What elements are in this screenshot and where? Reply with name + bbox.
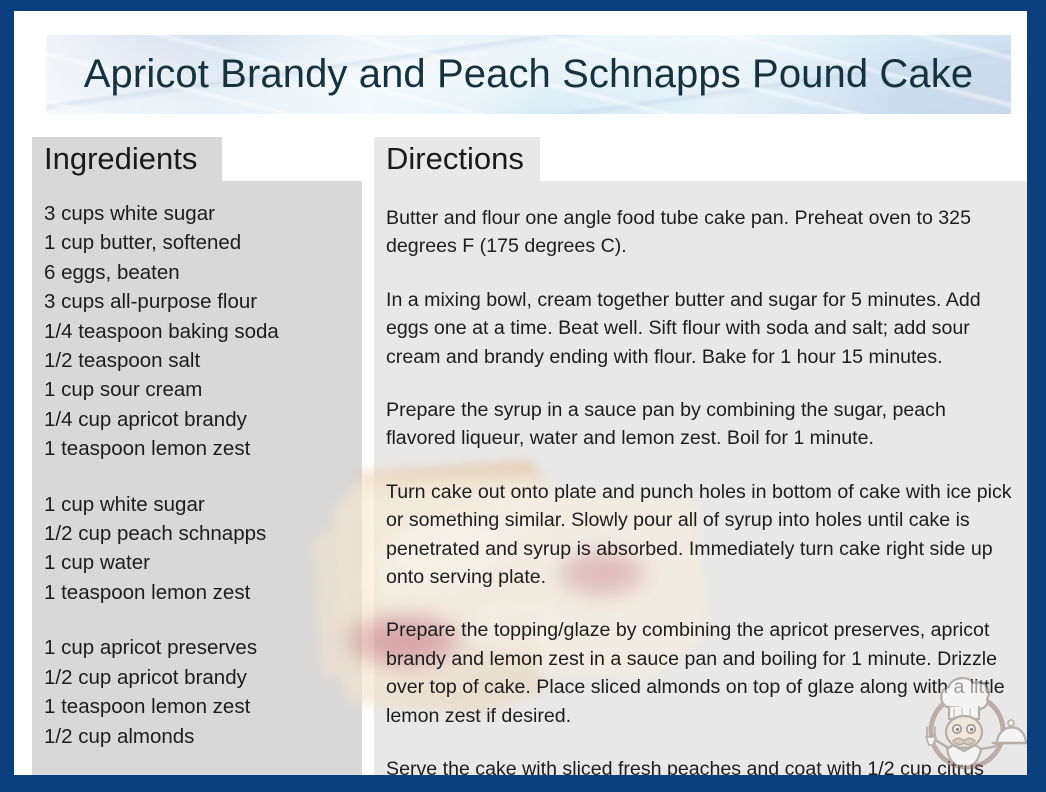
list-item: 1/4 teaspoon baking soda <box>44 317 372 346</box>
list-item: 6 eggs, beaten <box>44 258 372 287</box>
recipe-card: Apricot Brandy and Peach Schnapps Pound … <box>0 0 1046 792</box>
directions-list: Butter and flour one angle food tube cak… <box>374 204 1027 775</box>
list-item: 1 cup water <box>44 548 372 577</box>
list-item: 1 cup apricot preserves <box>44 633 372 662</box>
ingredient-group: 1 cup apricot preserves 1/2 cup apricot … <box>44 633 372 751</box>
ingredients-heading: Ingredients <box>32 137 222 181</box>
direction-step: Turn cake out onto plate and punch holes… <box>386 478 1016 592</box>
list-item: 1 teaspoon lemon zest <box>44 434 372 463</box>
list-item: 1 teaspoon lemon zest <box>44 692 372 721</box>
direction-step: Prepare the syrup in a sauce pan by comb… <box>386 396 1016 453</box>
directions-heading: Directions <box>374 137 540 181</box>
page-title: Apricot Brandy and Peach Schnapps Pound … <box>46 35 1011 114</box>
ingredient-group: 1 cup white sugar 1/2 cup peach schnapps… <box>44 490 372 608</box>
list-item: 3 cups all-purpose flour <box>44 287 372 316</box>
list-item: 1 teaspoon lemon zest <box>44 578 372 607</box>
direction-step: Serve the cake with sliced fresh peaches… <box>386 755 1016 775</box>
list-item: 1/2 cup apricot brandy <box>44 663 372 692</box>
list-item: 1/2 cup almonds <box>44 722 372 751</box>
list-item: 1/2 cup peach schnapps <box>44 519 372 548</box>
direction-step: In a mixing bowl, cream together butter … <box>386 286 1016 371</box>
recipe-page: Apricot Brandy and Peach Schnapps Pound … <box>14 11 1027 775</box>
direction-step: Butter and flour one angle food tube cak… <box>386 204 1016 261</box>
list-item: 3 cups white sugar <box>44 199 372 228</box>
ingredients-list: 3 cups white sugar 1 cup butter, softene… <box>32 199 372 751</box>
list-item: 1 cup sour cream <box>44 375 372 404</box>
list-item: 1 cup white sugar <box>44 490 372 519</box>
title-banner: Apricot Brandy and Peach Schnapps Pound … <box>46 35 1011 114</box>
list-item: 1/2 teaspoon salt <box>44 346 372 375</box>
direction-step: Prepare the topping/glaze by combining t… <box>386 616 1016 730</box>
list-item: 1/4 cup apricot brandy <box>44 405 372 434</box>
ingredient-group: 3 cups white sugar 1 cup butter, softene… <box>44 199 372 464</box>
list-item: 1 cup butter, softened <box>44 228 372 257</box>
